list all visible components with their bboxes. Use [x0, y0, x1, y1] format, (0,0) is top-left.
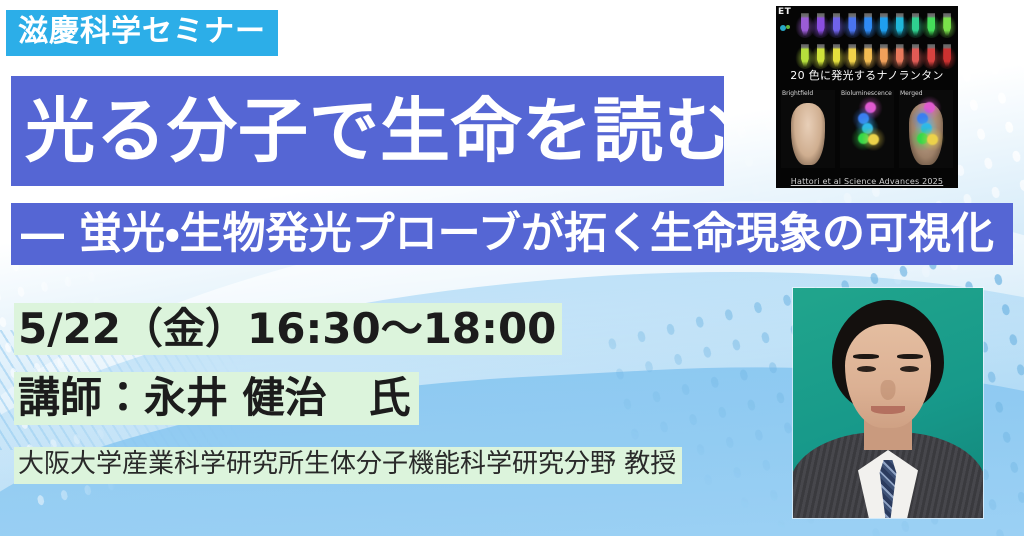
nanolantern-tube-array: [798, 11, 954, 73]
panel-merged: Merged: [899, 90, 953, 168]
portrait-eyebrow-left: [853, 354, 879, 359]
nanolantern-tube: [940, 42, 954, 70]
speaker-portrait: [793, 288, 983, 518]
title-bar: 光る分子で生命を読む: [11, 76, 724, 186]
figure-caption-japanese: 20 色に発光するナノランタン: [776, 70, 958, 81]
mouse-imaging-panels: Brightfield Bioluminescence Merged: [781, 90, 953, 168]
portrait-eye-left: [857, 366, 876, 372]
tube-row-top: [798, 11, 954, 39]
nanolantern-tube: [861, 11, 875, 39]
speaker-name: 講師：永井 健治 氏: [14, 372, 419, 425]
series-badge: 滋慶科学セミナー: [6, 10, 278, 56]
figure-citation: Hattori et al Science Advances 2025: [776, 178, 958, 186]
page-title: 光る分子で生命を読む: [25, 96, 735, 166]
nanolantern-tube: [861, 42, 875, 70]
nanolantern-tube: [940, 11, 954, 39]
panel-label: Brightfield: [782, 90, 813, 97]
science-figure: ET 20 色に発光するナノランタン Brightfield Biolumine…: [776, 6, 958, 188]
page-subtitle: ― 蛍光・生物発光プローブが拓く生命現象の可視化: [21, 213, 994, 256]
event-datetime: 5/22（金）16:30〜18:00: [14, 303, 562, 355]
figure-corner-label: ET: [778, 8, 791, 17]
tube-row-bottom: [798, 42, 954, 70]
mouse-silhouette: [791, 103, 825, 165]
portrait-eye-right: [900, 366, 919, 372]
bioluminescent-spot: [927, 134, 938, 145]
panel-label: Bioluminescence: [841, 90, 892, 97]
portrait-mouth: [871, 406, 905, 414]
bioluminescent-spot: [868, 134, 879, 145]
panel-bioluminescence: Bioluminescence: [840, 90, 894, 168]
panel-label: Merged: [900, 90, 923, 97]
speaker-affiliation: 大阪大学産業科学研究所生体分子機能科学研究分野 教授: [14, 447, 682, 484]
bret-diagram-icon: [778, 20, 792, 34]
portrait-nose: [881, 380, 896, 400]
portrait-eyebrow-right: [897, 354, 923, 359]
subtitle-bar: ― 蛍光・生物発光プローブが拓く生命現象の可視化: [11, 203, 1013, 265]
panel-brightfield: Brightfield: [781, 90, 835, 168]
seminar-poster: 滋慶科学セミナー 光る分子で生命を読む ― 蛍光・生物発光プローブが拓く生命現象…: [0, 0, 1024, 536]
